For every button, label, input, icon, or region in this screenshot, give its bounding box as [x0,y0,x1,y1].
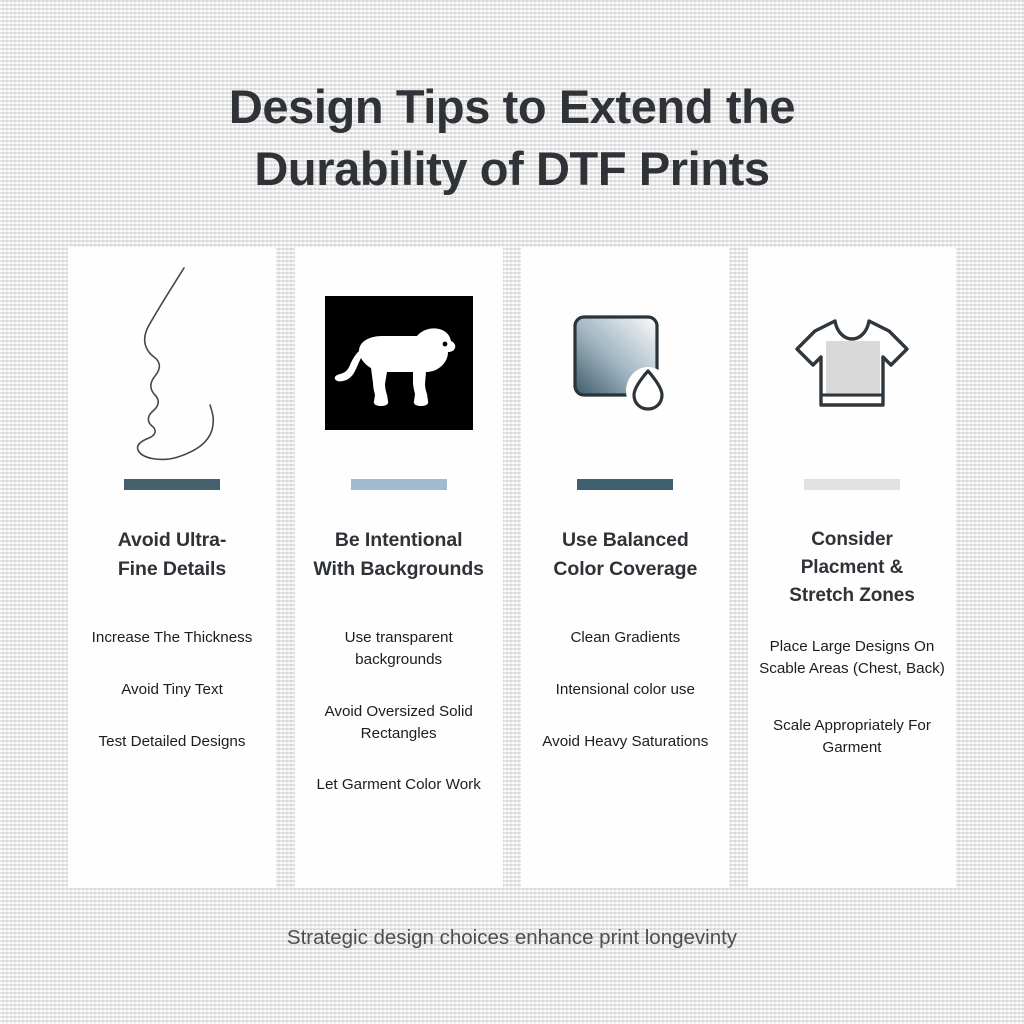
card-4-bullet-list: Place Large Designs On Scable Areas (Che… [754,636,950,795]
card-2-heading-line-2: With Backgrounds [313,558,483,580]
page-title: Design Tips to Extend the Durability of … [0,76,1024,200]
list-item: Avoid Heavy Saturations [527,731,723,753]
card-3-accent-bar [577,479,673,490]
card-2-accent-bar [351,479,447,490]
list-item: Scale Appropriately For Garment [754,715,950,758]
page-title-line-1: Design Tips to Extend the [0,76,1024,138]
card-1-heading-line-1: Avoid Ultra- [118,529,227,551]
card-4-heading: Consider Placment & Stretch Zones [761,526,943,610]
card-4-heading-line-2: Placment & [801,557,903,578]
card-2-bullet-list: Use transparent backgrounds Avoid Oversi… [301,627,497,796]
tips-card-row: Avoid Ultra- Fine Details Increase The T… [68,247,956,888]
infographic-poster: Design Tips to Extend the Durability of … [0,0,1024,1024]
tip-card-consider-placement-stretch-zones[interactable]: Consider Placment & Stretch Zones Place … [748,247,956,888]
list-item: Avoid Oversized Solid Rectangles [301,701,497,744]
card-1-bullet-list: Increase The Thickness Avoid Tiny Text T… [74,627,270,752]
card-1-heading: Avoid Ultra- Fine Details [81,526,263,583]
list-item: Use transparent backgrounds [301,627,497,670]
card-2-heading: Be Intentional With Backgrounds [308,526,490,583]
tshirt-print-area-icon [791,315,913,411]
list-item: Increase The Thickness [74,627,270,649]
page-title-line-2: Durability of DTF Prints [0,138,1024,200]
list-item: Let Garment Color Work [301,774,497,796]
footer-caption: Strategic design choices enhance print l… [0,926,1024,950]
card-2-icon-area [295,247,503,479]
card-4-accent-bar [804,479,900,490]
card-1-icon-area [68,247,276,479]
card-3-heading: Use Balanced Color Coverage [534,526,716,583]
card-3-heading-line-2: Color Coverage [553,558,697,580]
list-item: Clean Gradients [527,627,723,649]
face-profile-line-icon [114,265,230,461]
card-3-heading-line-1: Use Balanced [562,529,689,551]
card-4-heading-line-1: Consider [811,529,893,550]
tip-card-use-balanced-color-coverage[interactable]: Use Balanced Color Coverage Clean Gradie… [521,247,729,888]
list-item: Intensional color use [527,679,723,701]
card-1-accent-bar [124,479,220,490]
list-item: Place Large Designs On Scable Areas (Che… [754,636,950,679]
gradient-square-droplet-icon [570,313,680,413]
list-item: Test Detailed Designs [74,731,270,753]
tip-card-be-intentional-with-backgrounds[interactable]: Be Intentional With Backgrounds Use tran… [295,247,503,888]
card-2-heading-line-1: Be Intentional [335,529,463,551]
card-1-heading-line-2: Fine Details [118,558,226,580]
card-4-icon-area [748,247,956,479]
card-3-bullet-list: Clean Gradients Intensional color use Av… [527,627,723,752]
tiger-silhouette-icon [325,296,473,430]
card-3-icon-area [521,247,729,479]
card-4-heading-line-3: Stretch Zones [789,585,914,606]
tip-card-avoid-ultra-fine-details[interactable]: Avoid Ultra- Fine Details Increase The T… [68,247,276,888]
list-item: Avoid Tiny Text [74,679,270,701]
